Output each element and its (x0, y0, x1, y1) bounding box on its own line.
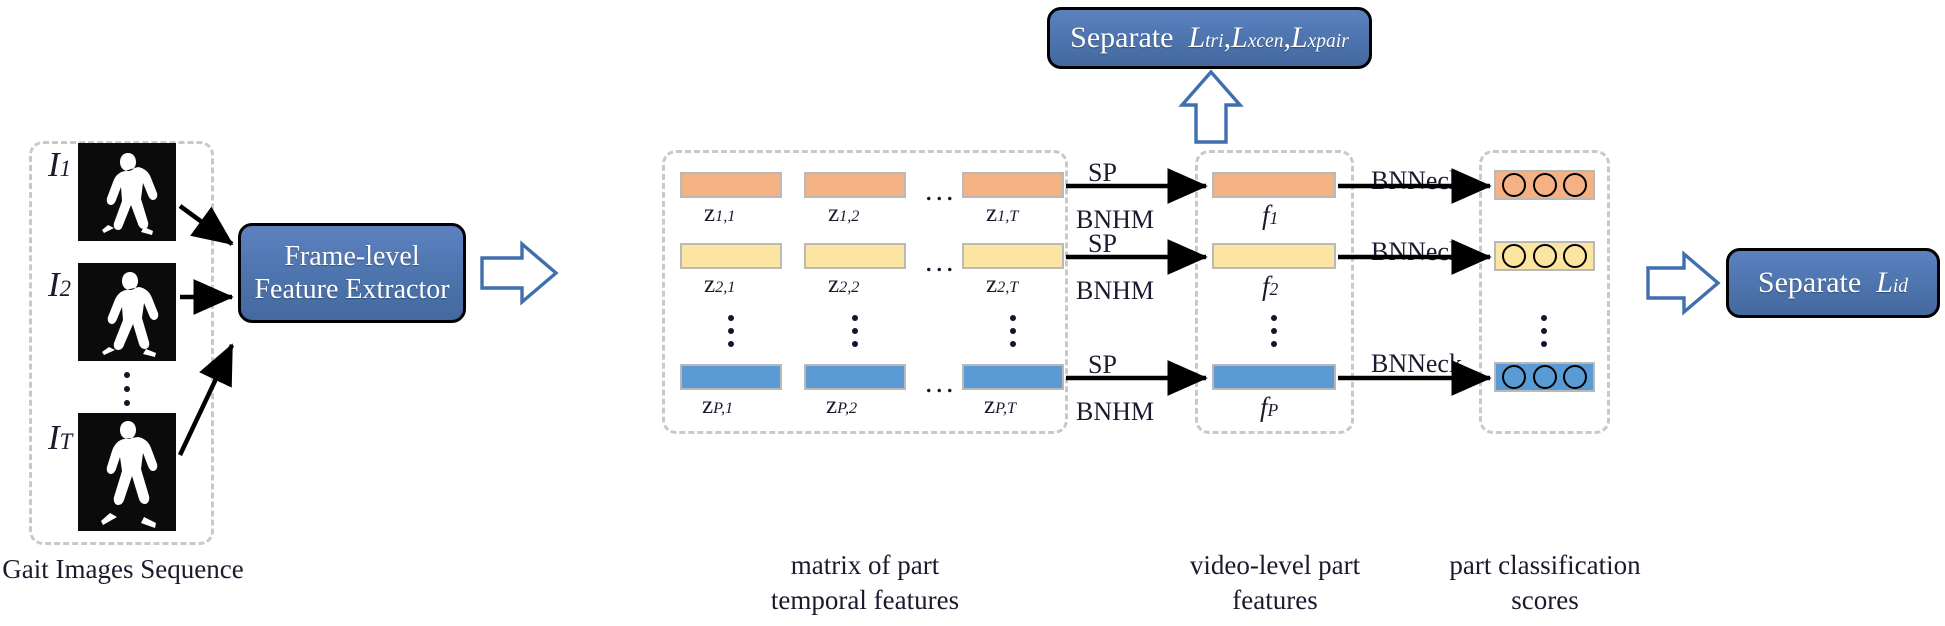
sp-label-row-2: SP (1088, 229, 1117, 259)
score-circle-icon (1563, 365, 1587, 389)
gait-frame-T (78, 413, 176, 531)
matrix-col-T-vertical-ellipsis (1010, 315, 1016, 347)
video-feature-label-f-1: f1 (1262, 200, 1278, 231)
gait-frame-1 (78, 143, 176, 241)
gait-silhouette-icon-1 (78, 143, 176, 241)
separate-id-loss-box[interactable]: Separate Lid (1726, 248, 1940, 318)
video-feature-f-1 (1212, 172, 1336, 198)
separate-losses-text: Separate Ltri,Lxcen,Lxpair (1070, 20, 1349, 55)
score-row-3 (1494, 362, 1595, 392)
matrix-cell-z-1-1 (680, 172, 782, 198)
separate-id-label: Separate (1758, 266, 1861, 299)
matrix-label-z-1-1: z1,1 (704, 200, 735, 228)
separate-label: Separate (1070, 21, 1173, 54)
gait-images-caption: Gait Images Sequence (0, 552, 246, 587)
matrix-caption: matrix of part temporal features (700, 548, 1030, 617)
separate-losses-box[interactable]: Separate Ltri,Lxcen,Lxpair (1047, 7, 1372, 69)
matrix-label-z-2-1: z2,1 (704, 271, 735, 299)
matrix-row-3-ellipsis: ... (925, 368, 957, 398)
comma-2: , (1283, 21, 1291, 54)
matrix-row-1-ellipsis: ... (925, 176, 957, 206)
hollow-arrow-scores-to-id-loss (1648, 254, 1718, 312)
score-row-2 (1494, 241, 1595, 271)
score-circle-icon (1502, 244, 1526, 268)
bnhm-label-row-3: BNHM (1076, 397, 1154, 427)
matrix-cell-z-2-2 (804, 243, 906, 269)
extractor-line-1: Frame-level (284, 240, 419, 273)
sp-label-row-1: SP (1088, 158, 1117, 188)
matrix-label-z-P-2: zP,2 (826, 392, 857, 420)
video-features-caption: video-level part features (1160, 548, 1390, 617)
score-row-1 (1494, 170, 1595, 200)
matrix-label-z-P-1: zP,1 (702, 392, 733, 420)
score-circle-icon (1563, 244, 1587, 268)
hollow-arrow-up-to-loss (1182, 72, 1240, 142)
matrix-col-1-vertical-ellipsis (728, 315, 734, 347)
score-circle-icon (1533, 365, 1557, 389)
score-circle-icon (1533, 244, 1557, 268)
bnneck-label-row-2: BNNeck (1371, 237, 1462, 267)
frame-level-feature-extractor-box[interactable]: Frame-level Feature Extractor (238, 223, 466, 323)
bnneck-label-row-1: BNNeck (1371, 166, 1462, 196)
sp-label-row-3: SP (1088, 350, 1117, 380)
scores-caption: part classification scores (1430, 548, 1660, 617)
extractor-line-2: Feature Extractor (254, 273, 449, 306)
input-label-2: I2 (48, 265, 71, 305)
matrix-cell-z-1-2 (804, 172, 906, 198)
matrix-label-z-1-2: z1,2 (828, 200, 859, 228)
matrix-label-z-P-T: zP,T (984, 392, 1016, 420)
video-feature-label-f-2: f2 (1262, 271, 1278, 302)
score-circle-icon (1502, 365, 1526, 389)
bnhm-label-row-2: BNHM (1076, 276, 1154, 306)
scores-vertical-ellipsis (1541, 315, 1547, 347)
matrix-label-z-2-2: z2,2 (828, 271, 859, 299)
input-label-T: IT (48, 418, 72, 458)
loss-tri: Ltri (1188, 21, 1223, 54)
input-label-1: I1 (48, 145, 71, 185)
gait-silhouette-icon-2 (78, 263, 176, 361)
matrix-label-z-2-T: z2,T (986, 271, 1018, 299)
matrix-cell-z-P-1 (680, 364, 782, 390)
separate-id-text: Separate Lid (1758, 265, 1908, 300)
matrix-cell-z-2-T (962, 243, 1064, 269)
bnneck-label-row-3: BNNeck (1371, 349, 1462, 379)
matrix-col-2-vertical-ellipsis (852, 315, 858, 347)
video-feature-f-2 (1212, 243, 1336, 269)
matrix-row-2-ellipsis: ... (925, 247, 957, 277)
matrix-cell-z-1-T (962, 172, 1064, 198)
score-circle-icon (1533, 173, 1557, 197)
video-features-vertical-ellipsis (1271, 315, 1277, 347)
score-circle-icon (1563, 173, 1587, 197)
hollow-arrow-extractor-to-matrix (482, 244, 556, 302)
comma-1: , (1224, 21, 1232, 54)
loss-xpair: Lxpair (1291, 21, 1349, 54)
gait-frame-2 (78, 263, 176, 361)
matrix-cell-z-2-1 (680, 243, 782, 269)
score-circle-icon (1502, 173, 1526, 197)
matrix-label-z-1-T: z1,T (986, 200, 1018, 228)
loss-xcen: Lxcen (1231, 21, 1283, 54)
video-feature-f-P (1212, 364, 1336, 390)
matrix-cell-z-P-T (962, 364, 1064, 390)
loss-id: Lid (1876, 266, 1908, 299)
matrix-cell-z-P-2 (804, 364, 906, 390)
gait-silhouette-icon-T (78, 413, 176, 531)
video-feature-label-f-P: fP (1260, 392, 1278, 423)
gait-frames-vertical-ellipsis (124, 372, 130, 406)
